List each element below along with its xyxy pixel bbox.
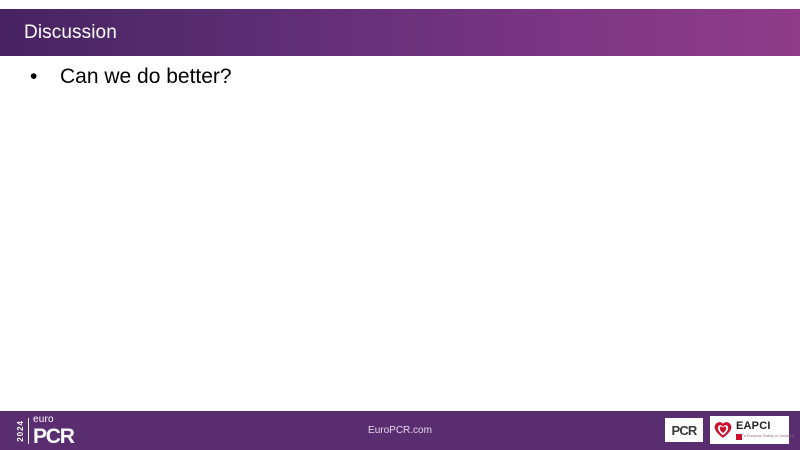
pcr-badge-label: PCR	[671, 423, 696, 438]
slide-canvas: Discussion • Can we do better? 2024 euro…	[0, 0, 800, 450]
list-item: • Can we do better?	[26, 62, 800, 92]
eapci-subtitle-row: A European Society of Cardiology	[736, 434, 795, 440]
eapci-text-block: EAPCI A European Society of Cardiology	[736, 421, 795, 440]
europcr-logo: 2024 euro PCR	[17, 415, 74, 447]
logo-year-label: 2024	[17, 420, 25, 442]
logo-divider	[28, 418, 29, 444]
heart-icon	[713, 420, 733, 440]
slide-footer-band: 2024 euro PCR EuroPCR.com PCR EAPCI	[0, 411, 800, 450]
eapci-name-label: EAPCI	[736, 421, 795, 432]
logo-euro-label: euro	[33, 415, 74, 425]
page-title: Discussion	[24, 22, 117, 44]
slide-body: • Can we do better?	[0, 62, 800, 407]
eapci-badge: EAPCI A European Society of Cardiology	[710, 416, 789, 444]
bullet-point-icon: •	[30, 62, 37, 92]
pcr-badge: PCR	[665, 418, 703, 442]
logo-pcr-label: PCR	[33, 426, 74, 447]
footer-url-text: EuroPCR.com	[368, 425, 432, 436]
slide-title-band: Discussion	[0, 9, 800, 56]
eapci-subtitle-label: A European Society of Cardiology	[744, 435, 795, 438]
logo-wordmark: euro PCR	[33, 415, 74, 447]
esc-square-icon	[736, 434, 742, 440]
bullet-list: • Can we do better?	[0, 62, 800, 92]
list-item-label: Can we do better?	[60, 65, 232, 88]
